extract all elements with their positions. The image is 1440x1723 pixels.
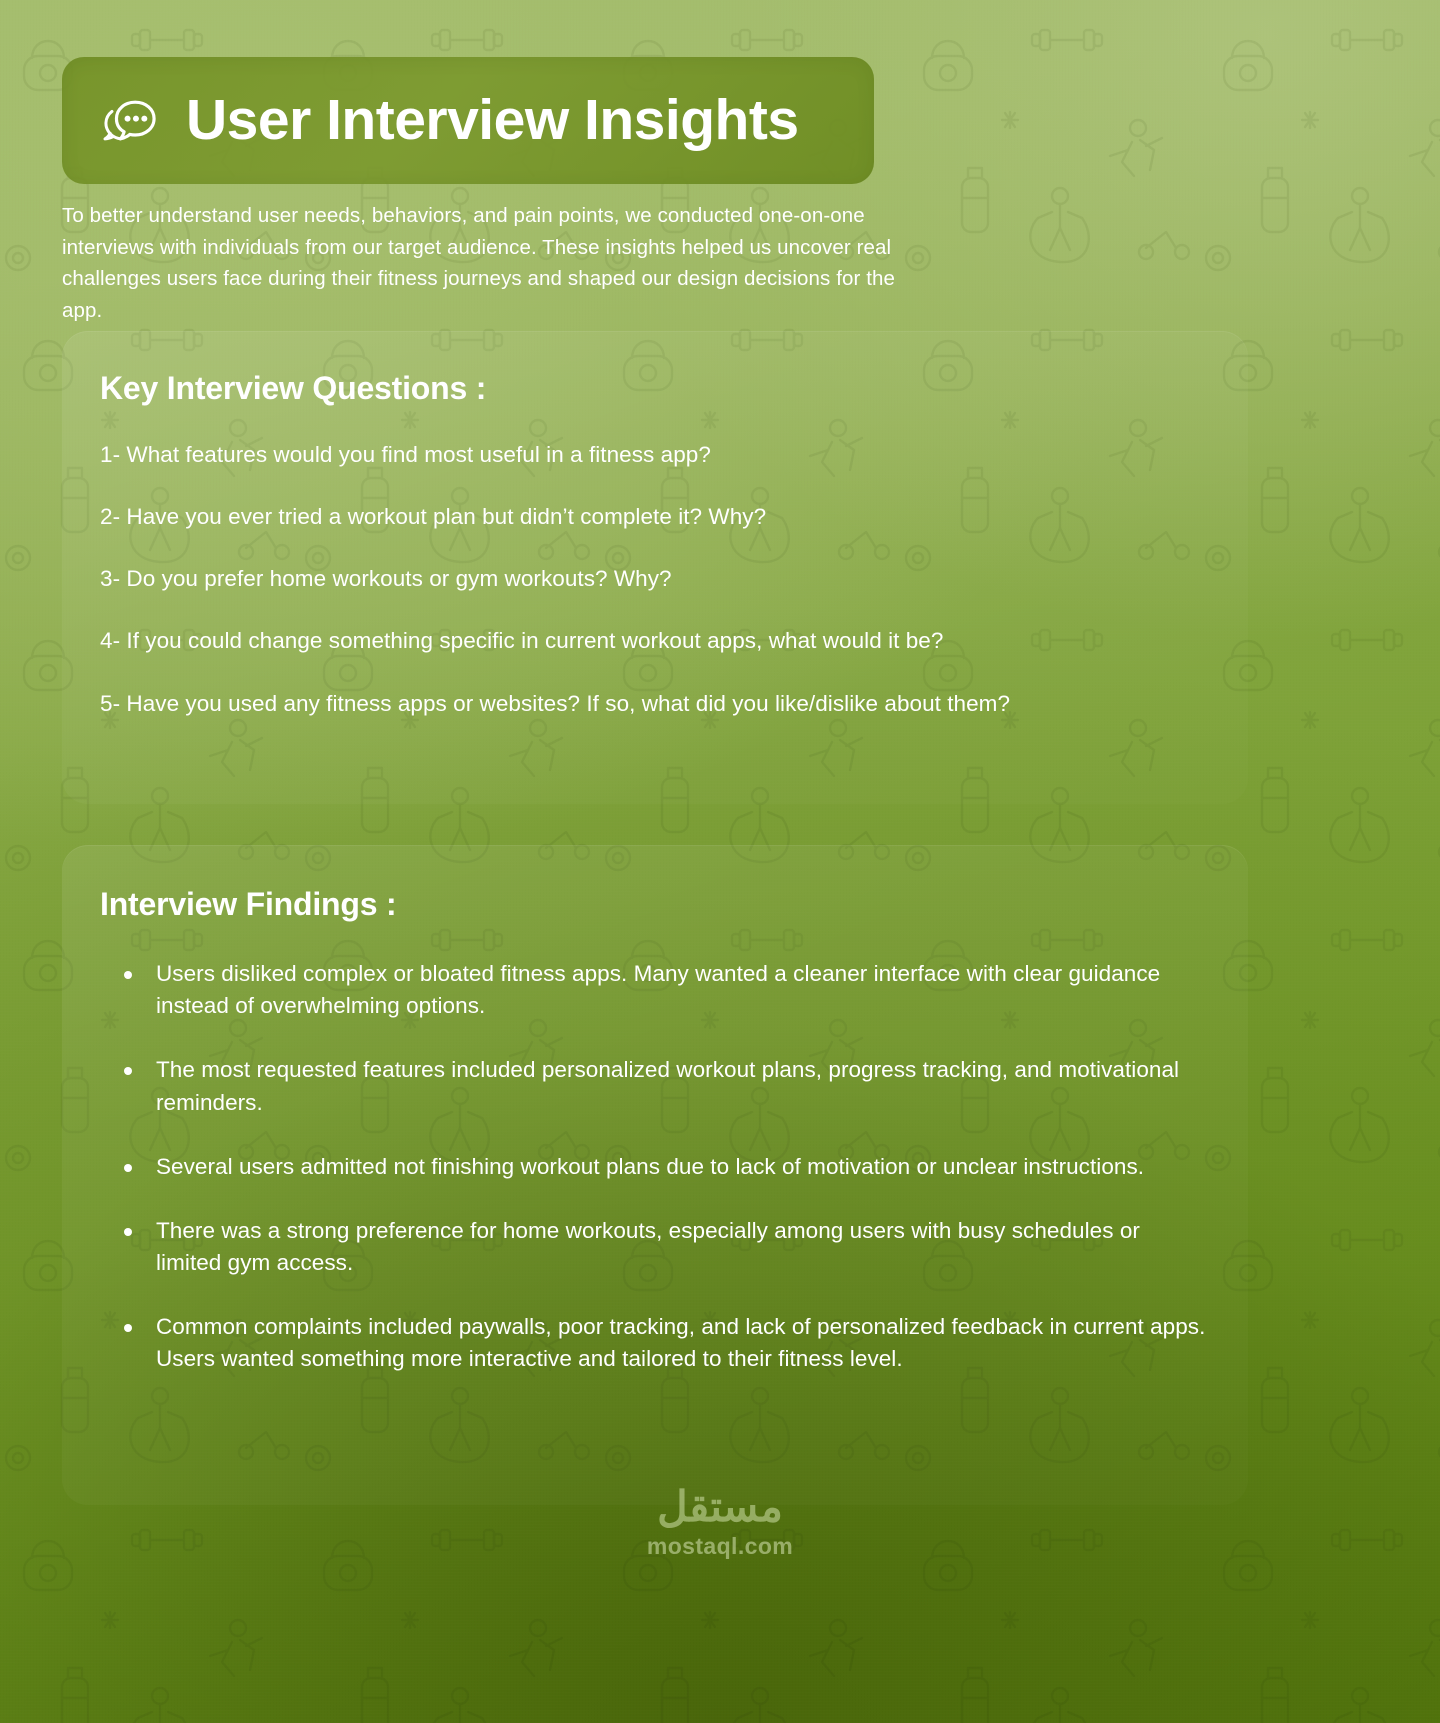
list-item: 5- Have you used any fitness apps or web… (100, 689, 1220, 719)
list-item: Common complaints included paywalls, poo… (118, 1311, 1210, 1375)
list-item: Several users admitted not finishing wor… (118, 1151, 1210, 1183)
list-item: Users disliked complex or bloated fitnes… (118, 958, 1210, 1022)
list-item: 4- If you could change something specifi… (100, 626, 1220, 656)
list-item: 1- What features would you find most use… (100, 440, 1220, 470)
chat-bubble-dots-icon (100, 94, 158, 148)
intro-paragraph: To better understand user needs, behavio… (62, 200, 922, 326)
poster-canvas: User Interview Insights To better unders… (0, 0, 1440, 1723)
list-item: 3- Do you prefer home workouts or gym wo… (100, 564, 1220, 594)
key-questions-list: 1- What features would you find most use… (100, 440, 1220, 719)
page-header-pill: User Interview Insights (62, 57, 874, 184)
page-title: User Interview Insights (186, 92, 799, 149)
list-item: 2- Have you ever tried a workout plan bu… (100, 502, 1220, 532)
list-item: The most requested features included per… (118, 1054, 1210, 1118)
logo-url-text: mostaql.com (647, 1533, 793, 1560)
list-item: There was a strong preference for home w… (118, 1215, 1210, 1279)
interview-findings-title: Interview Findings : (100, 886, 396, 923)
key-questions-title: Key Interview Questions : (100, 370, 486, 407)
interview-findings-list: Users disliked complex or bloated fitnes… (118, 958, 1210, 1376)
